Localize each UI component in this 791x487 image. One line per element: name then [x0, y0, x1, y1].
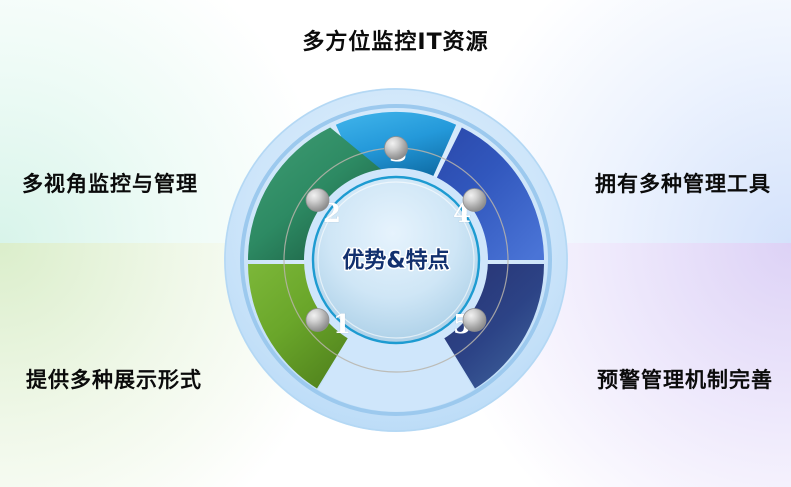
marker-2[interactable] [306, 189, 329, 212]
segment-wheel: 优势&特点 1 2 3 4 5 [222, 86, 570, 434]
label-right-bottom: 预警管理机制完善 [597, 364, 773, 394]
center-label: 优势&特点 [342, 248, 449, 274]
label-left-top: 多视角监控与管理 [22, 168, 198, 198]
marker-3[interactable] [385, 137, 408, 160]
label-left-bottom: 提供多种展示形式 [26, 364, 202, 394]
marker-1[interactable] [306, 309, 329, 332]
label-top: 多方位监控IT资源 [0, 24, 791, 56]
diagram-canvas: 多方位监控IT资源 多视角监控与管理 提供多种展示形式 拥有多种管理工具 预警管… [0, 0, 791, 487]
label-right-top: 拥有多种管理工具 [595, 168, 771, 198]
marker-4[interactable] [463, 189, 486, 212]
marker-5[interactable] [463, 309, 486, 332]
segment-number-1: 1 [333, 310, 351, 340]
